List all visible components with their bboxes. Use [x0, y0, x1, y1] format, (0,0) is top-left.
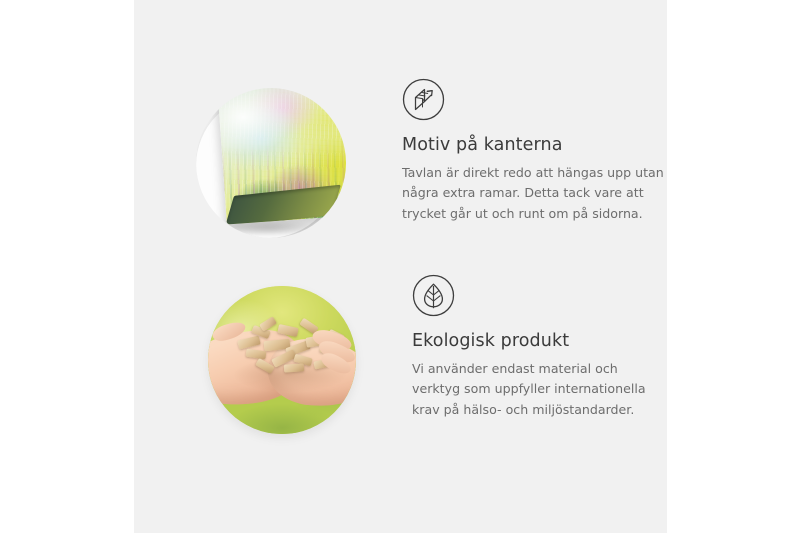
feature-row-motiv-pa-kanterna: Motiv på kanterna Tavlan är direkt redo … [134, 76, 667, 238]
hands-holding-wood-chips-photo [208, 286, 356, 434]
canvas-wrap-edge-icon [402, 78, 445, 121]
leaf-eco-icon [412, 274, 455, 317]
feature-title: Motiv på kanterna [402, 135, 667, 156]
product-feature-banner: Motiv på kanterna Tavlan är direkt redo … [0, 0, 800, 533]
feature-text-block: Motiv på kanterna Tavlan är direkt redo … [346, 76, 667, 224]
feature-title: Ekologisk produkt [412, 331, 667, 352]
feature-text-block: Ekologisk produkt Vi använder endast mat… [356, 272, 667, 420]
feature-description: Vi använder endast material och verktyg … [412, 359, 667, 420]
feature-row-ekologisk-produkt: Ekologisk produkt Vi använder endast mat… [134, 272, 667, 434]
canvas-print-body [217, 88, 346, 224]
feature-description: Tavlan är direkt redo att hängas upp uta… [402, 163, 667, 224]
canvas-print-corner-photo [196, 88, 346, 238]
